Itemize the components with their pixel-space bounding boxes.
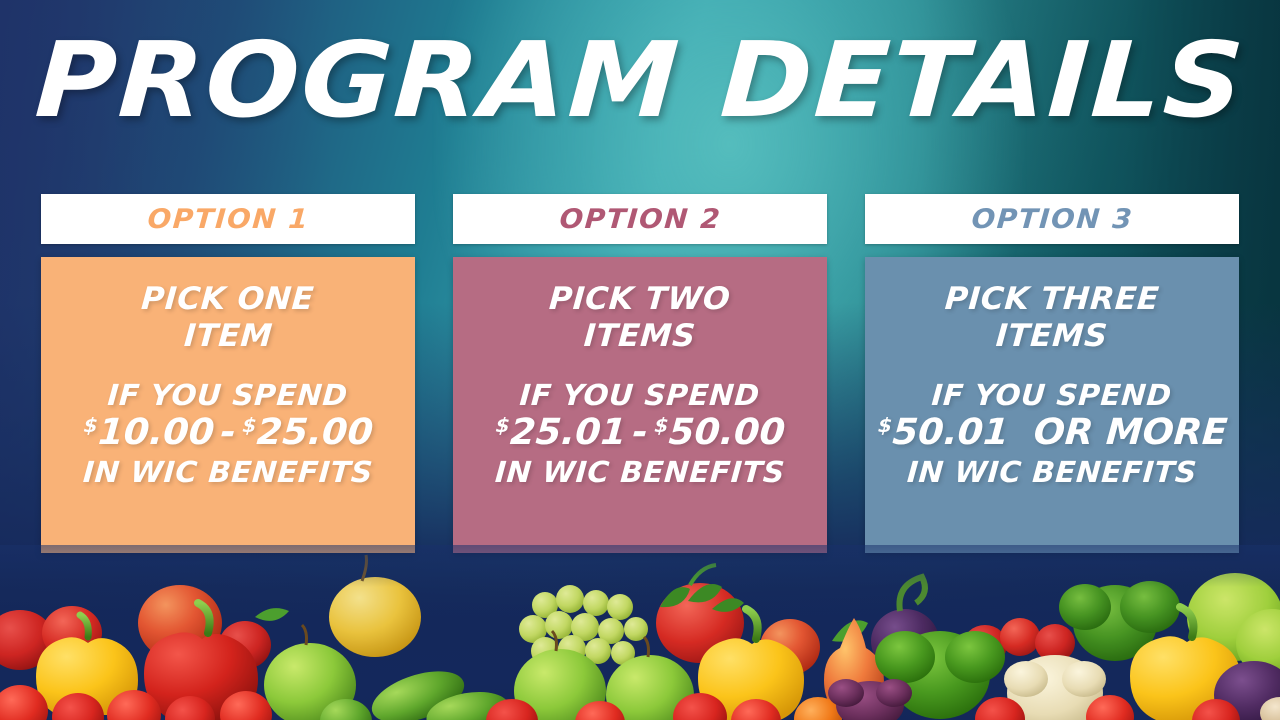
currency-symbol: $ bbox=[83, 414, 99, 437]
page-title: PROGRAM DETAILS bbox=[32, 28, 1247, 132]
option-card-3-pick-line-2: ITEMS bbox=[995, 318, 1109, 355]
option-card-2-header: OPTION 2 bbox=[453, 194, 827, 244]
page-title-container: PROGRAM DETAILS bbox=[0, 28, 1280, 132]
option-card-2-amount-separator: - bbox=[631, 412, 649, 453]
option-card-2-body: PICK TWO ITEMS IF YOU SPEND $25.01-$50.0… bbox=[453, 257, 827, 553]
option-card-1-spend-label: IF YOU SPEND bbox=[107, 378, 349, 412]
currency-symbol: $ bbox=[877, 414, 893, 437]
option-card-1-amount-separator: - bbox=[219, 412, 237, 453]
option-card-2-benefits-label: IN WIC BENEFITS bbox=[494, 455, 786, 489]
option-card-3-amount-low: 50.01 bbox=[891, 412, 1010, 453]
option-card-1-amount-high: 25.00 bbox=[255, 412, 374, 453]
option-card-1-header: OPTION 1 bbox=[41, 194, 415, 244]
option-card-3-amount-range: $50.01 OR MORE bbox=[876, 412, 1229, 454]
option-card-1-amount-low: 10.00 bbox=[97, 412, 216, 453]
produce-border-image bbox=[0, 545, 1280, 720]
option-card-1-benefits-label: IN WIC BENEFITS bbox=[82, 455, 374, 489]
option-card-2-pick-line-2: ITEMS bbox=[583, 318, 697, 355]
option-card-2-amount-low: 25.01 bbox=[509, 412, 628, 453]
option-card-2-pick-line-1: PICK TWO bbox=[548, 281, 732, 318]
option-card-2-header-label: OPTION 2 bbox=[558, 204, 722, 235]
option-card-2-amount-range: $25.01-$50.00 bbox=[494, 412, 787, 454]
option-card-1[interactable]: OPTION 1 PICK ONE ITEM IF YOU SPEND $10.… bbox=[41, 194, 415, 554]
option-card-2[interactable]: OPTION 2 PICK TWO ITEMS IF YOU SPEND $25… bbox=[453, 194, 827, 554]
option-card-2-spend-label: IF YOU SPEND bbox=[519, 378, 761, 412]
option-card-3-benefits-label: IN WIC BENEFITS bbox=[906, 455, 1198, 489]
option-card-1-pick-line-2: ITEM bbox=[182, 318, 273, 355]
option-card-3-spend-label: IF YOU SPEND bbox=[931, 378, 1173, 412]
currency-symbol: $ bbox=[241, 414, 257, 437]
option-card-3-body: PICK THREE ITEMS IF YOU SPEND $50.01 OR … bbox=[865, 257, 1239, 553]
currency-symbol: $ bbox=[653, 414, 669, 437]
option-card-3-header: OPTION 3 bbox=[865, 194, 1239, 244]
option-card-1-body: PICK ONE ITEM IF YOU SPEND $10.00-$25.00… bbox=[41, 257, 415, 553]
option-card-1-amount-range: $10.00-$25.00 bbox=[82, 412, 375, 454]
program-details-slide: PROGRAM DETAILS OPTION 1 PICK ONE ITEM I… bbox=[0, 0, 1280, 720]
option-card-3-pick-line-1: PICK THREE bbox=[944, 281, 1161, 318]
option-card-1-header-label: OPTION 1 bbox=[146, 204, 310, 235]
option-card-2-amount-high: 50.00 bbox=[667, 412, 786, 453]
currency-symbol: $ bbox=[495, 414, 511, 437]
option-card-1-pick-line-1: PICK ONE bbox=[140, 281, 315, 318]
option-card-3[interactable]: OPTION 3 PICK THREE ITEMS IF YOU SPEND $… bbox=[865, 194, 1239, 554]
option-card-3-amount-suffix: OR MORE bbox=[1032, 412, 1228, 453]
options-row: OPTION 1 PICK ONE ITEM IF YOU SPEND $10.… bbox=[41, 194, 1239, 554]
option-card-3-header-label: OPTION 3 bbox=[970, 204, 1134, 235]
